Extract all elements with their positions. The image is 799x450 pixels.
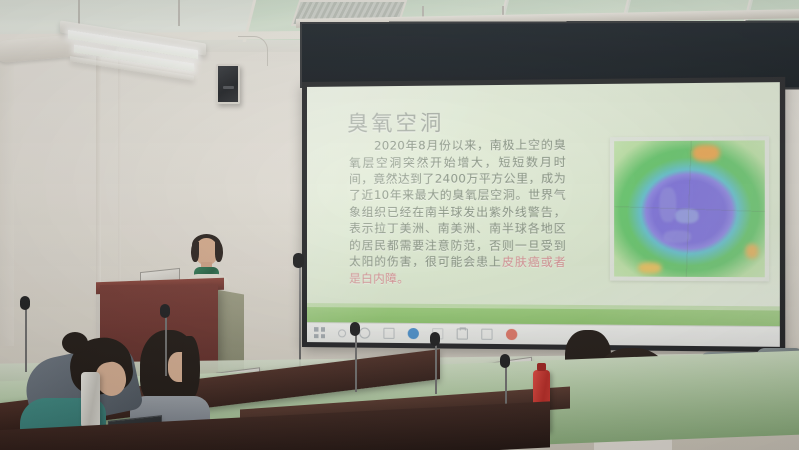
slide-body-paragraph: 2020年8月份以来，南极上空的臭氧层空洞突然开始增大，短短数月时间，竟然达到了…: [349, 138, 566, 270]
projection-screen-frame: 臭氧空洞 2020年8月份以来，南极上空的臭氧层空洞突然开始增大，短短数月时间，…: [302, 77, 785, 352]
wall-column: [0, 56, 14, 346]
desk-microphone: [500, 354, 510, 368]
recording-icon[interactable]: [506, 329, 517, 340]
desk-microphone-stand: [355, 332, 357, 392]
speaker-cable: [238, 36, 268, 66]
desk-microphone-stand: [165, 314, 167, 376]
presentation-slide: 臭氧空洞 2020年8月份以来，南极上空的臭氧层空洞突然开始增大，短短数月时间，…: [307, 82, 780, 347]
desk-microphone-stand: [505, 364, 507, 404]
windows-start-icon[interactable]: [314, 327, 325, 338]
classroom-scene: 臭氧空洞 2020年8月份以来，南极上空的臭氧层空洞突然开始增大，短短数月时间，…: [0, 0, 799, 450]
slide-body-text: 2020年8月份以来，南极上空的臭氧层空洞突然开始增大，短短数月时间，竟然达到了…: [349, 136, 566, 287]
gooseneck-microphone: [293, 253, 304, 268]
desk-microphone-stand: [435, 342, 437, 394]
search-icon[interactable]: [338, 329, 346, 337]
ozone-hole-image: [610, 136, 769, 281]
slide-title: 臭氧空洞: [347, 109, 767, 136]
thermos-bottle[interactable]: [81, 372, 100, 428]
mail-icon[interactable]: [481, 329, 492, 340]
wall-speaker: [216, 64, 240, 104]
task-view-icon[interactable]: [383, 328, 394, 339]
edge-browser-icon[interactable]: [408, 328, 419, 339]
windows-taskbar[interactable]: [307, 322, 780, 347]
projection-screen[interactable]: 臭氧空洞 2020年8月份以来，南极上空的臭氧层空洞突然开始增大，短短数月时间，…: [307, 82, 780, 347]
desk-microphone: [350, 322, 360, 336]
cortana-icon[interactable]: [359, 328, 370, 339]
student-second-left: [138, 330, 200, 420]
desk-microphone-stand: [25, 306, 27, 372]
desk-microphone: [430, 332, 440, 346]
desk-microphone: [160, 304, 170, 318]
file-explorer-icon[interactable]: [457, 328, 468, 339]
ozone-hole-map: [614, 140, 765, 277]
desk-microphone: [20, 296, 30, 310]
